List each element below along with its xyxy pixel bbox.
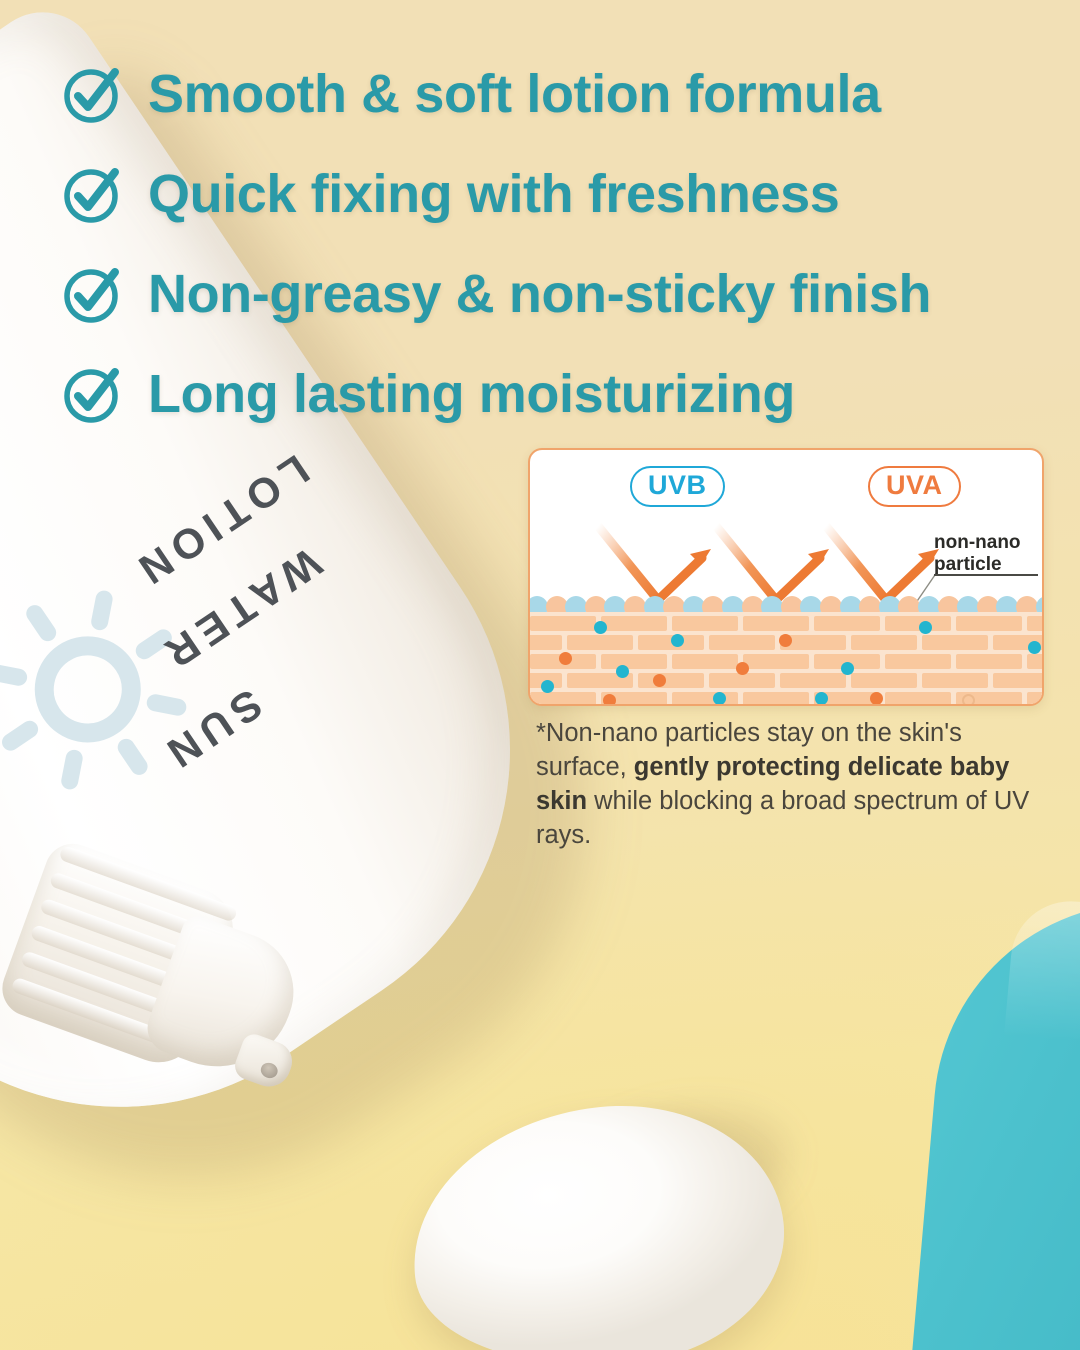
nano-particle [594, 621, 607, 634]
benefit-item: Non-greasy & non-sticky finish [62, 244, 1062, 344]
skin-brick [885, 616, 951, 631]
skin-brick [851, 635, 917, 650]
diagram-caption: *Non-nano particles stay on the skin's s… [536, 716, 1046, 853]
nano-particle [603, 694, 616, 706]
skin-brick [530, 616, 596, 631]
skin-brick [780, 673, 846, 688]
skin-brick [528, 635, 562, 650]
skin-brick [993, 673, 1044, 688]
benefit-list: Smooth & soft lotion formula Quick fixin… [62, 44, 1062, 444]
benefit-label: Smooth & soft lotion formula [148, 67, 881, 121]
skin-brick [956, 654, 1022, 669]
non-nano-particle-label: non-nano particle [934, 532, 1021, 576]
benefit-item: Quick fixing with freshness [62, 144, 1062, 244]
uv-protection-diagram: UVB UVA [528, 448, 1044, 706]
nano-particle [713, 692, 726, 705]
benefit-label: Non-greasy & non-sticky finish [148, 267, 931, 321]
nano-particle [815, 692, 828, 705]
skin-brick [638, 673, 704, 688]
non-nano-label-underline [934, 574, 1038, 576]
check-circle-icon [62, 363, 124, 425]
skin-brick [922, 635, 988, 650]
skin-brick [1027, 654, 1044, 669]
skin-brick [672, 692, 738, 706]
skin-layer [530, 612, 1042, 704]
nano-particle [919, 621, 932, 634]
skin-brick [709, 673, 775, 688]
check-circle-icon [62, 63, 124, 125]
skin-brick [567, 635, 633, 650]
nano-particle [671, 634, 684, 647]
nano-particle [1028, 641, 1041, 654]
nano-particle [779, 634, 792, 647]
skin-brick [672, 616, 738, 631]
sun-core [14, 616, 161, 763]
skin-brick [743, 616, 809, 631]
product-benefits-graphic: SUN WATER LOTION [0, 0, 1080, 1350]
skin-brick [885, 692, 951, 706]
nano-particle [616, 665, 629, 678]
skin-brick [956, 616, 1022, 631]
skin-brick [743, 692, 809, 706]
nano-particle [736, 662, 749, 675]
skin-brick [672, 654, 738, 669]
skin-brick [885, 654, 951, 669]
benefit-item: Smooth & soft lotion formula [62, 44, 1062, 144]
nano-particle [541, 680, 554, 693]
caption-part-2: while blocking a broad spectrum of UV ra… [536, 787, 1029, 849]
skin-brick [530, 692, 596, 706]
skin-brick [601, 616, 667, 631]
benefit-item: Long lasting moisturizing [62, 344, 1062, 444]
skin-brick [709, 635, 775, 650]
benefit-label: Long lasting moisturizing [148, 367, 795, 421]
skin-pore [962, 694, 975, 706]
skin-brick [922, 673, 988, 688]
skin-brick [851, 673, 917, 688]
skin-brick [1027, 692, 1044, 706]
nano-particle [559, 652, 572, 665]
skin-brick [601, 654, 667, 669]
skin-brick [1027, 616, 1044, 631]
skin-brick [814, 616, 880, 631]
sun-icon [0, 558, 220, 822]
skin-brick [743, 654, 809, 669]
nano-particle [870, 692, 883, 705]
nano-particle [841, 662, 854, 675]
benefit-label: Quick fixing with freshness [148, 167, 839, 221]
check-circle-icon [62, 163, 124, 225]
check-circle-icon [62, 263, 124, 325]
nano-particle [653, 674, 666, 687]
